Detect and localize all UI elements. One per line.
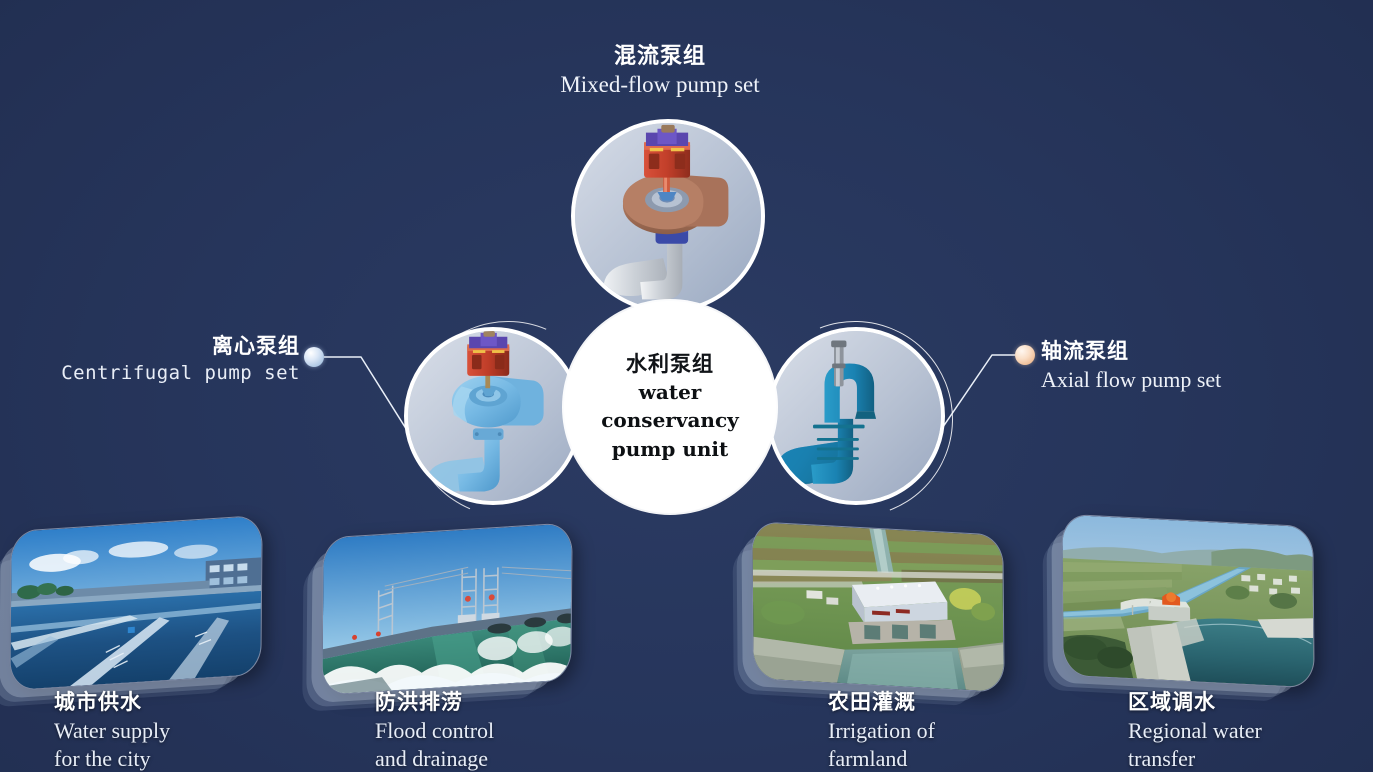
caption-water-transfer-en-2: transfer xyxy=(1128,746,1262,771)
caption-irrigation-en-1: Irrigation of xyxy=(828,718,935,743)
center-title-en-2: conservancy xyxy=(601,408,739,434)
caption-irrigation-en-2: farmland xyxy=(828,746,935,771)
photo-aerial-water-transfer-canal xyxy=(1061,514,1314,689)
label-mixed-flow-cn: 混流泵组 xyxy=(460,44,860,69)
caption-water-transfer-en-1: Regional water xyxy=(1128,718,1262,743)
label-axial-flow: 轴流泵组 Axial flow pump set xyxy=(1041,335,1361,393)
label-mixed-flow: 混流泵组 Mixed-flow pump set xyxy=(460,44,860,99)
connector-dot-right xyxy=(1015,345,1035,365)
mixed-flow-pump-icon xyxy=(575,123,761,309)
center-title-cn: 水利泵组 xyxy=(626,352,714,377)
label-centrifugal-en: Centrifugal pump set xyxy=(0,362,300,384)
caption-irrigation: 农田灌溉 Irrigation of farmland xyxy=(828,691,935,771)
axial-flow-pump-icon xyxy=(771,331,941,501)
centrifugal-pump-icon xyxy=(408,331,578,501)
caption-flood-control-cn: 防洪排涝 xyxy=(375,691,494,715)
application-card-flood-control[interactable] xyxy=(321,522,572,695)
center-title-en-3: pump unit xyxy=(612,437,729,463)
caption-flood-control-en-2: and drainage xyxy=(375,746,494,771)
photo-water-treatment-basin xyxy=(9,515,262,691)
photo-aerial-irrigation-station xyxy=(751,521,1004,693)
application-card-water-transfer[interactable] xyxy=(1061,514,1314,689)
pump-image-mixed-flow[interactable] xyxy=(571,119,765,313)
caption-water-supply-en-2: for the city xyxy=(54,746,170,771)
caption-flood-control: 防洪排涝 Flood control and drainage xyxy=(375,691,494,771)
caption-water-supply-en-1: Water supply xyxy=(54,718,170,743)
center-title-en-1: water xyxy=(639,380,702,406)
photo-spillway-dam xyxy=(321,522,572,695)
pump-image-centrifugal[interactable] xyxy=(404,327,582,505)
label-axial-flow-en: Axial flow pump set xyxy=(1041,367,1361,393)
caption-irrigation-cn: 农田灌溉 xyxy=(828,691,935,715)
caption-water-transfer-cn: 区域调水 xyxy=(1128,691,1262,715)
label-centrifugal-cn: 离心泵组 xyxy=(0,330,300,360)
label-axial-flow-cn: 轴流泵组 xyxy=(1041,335,1361,365)
pump-image-axial-flow[interactable] xyxy=(767,327,945,505)
application-card-water-supply[interactable] xyxy=(9,515,262,691)
caption-flood-control-en-1: Flood control xyxy=(375,718,494,743)
infographic-canvas: 混流泵组 Mixed-flow pump set 离心泵组 Centrifuga… xyxy=(0,0,1373,772)
application-card-irrigation[interactable] xyxy=(751,521,1004,693)
center-node[interactable]: 水利泵组 water conservancy pump unit xyxy=(564,301,776,513)
caption-water-transfer: 区域调水 Regional water transfer xyxy=(1128,691,1262,771)
connector-dot-left xyxy=(304,347,324,367)
label-centrifugal: 离心泵组 Centrifugal pump set xyxy=(0,330,300,384)
caption-water-supply: 城市供水 Water supply for the city xyxy=(54,691,170,771)
caption-water-supply-cn: 城市供水 xyxy=(54,691,170,715)
label-mixed-flow-en: Mixed-flow pump set xyxy=(460,72,860,98)
